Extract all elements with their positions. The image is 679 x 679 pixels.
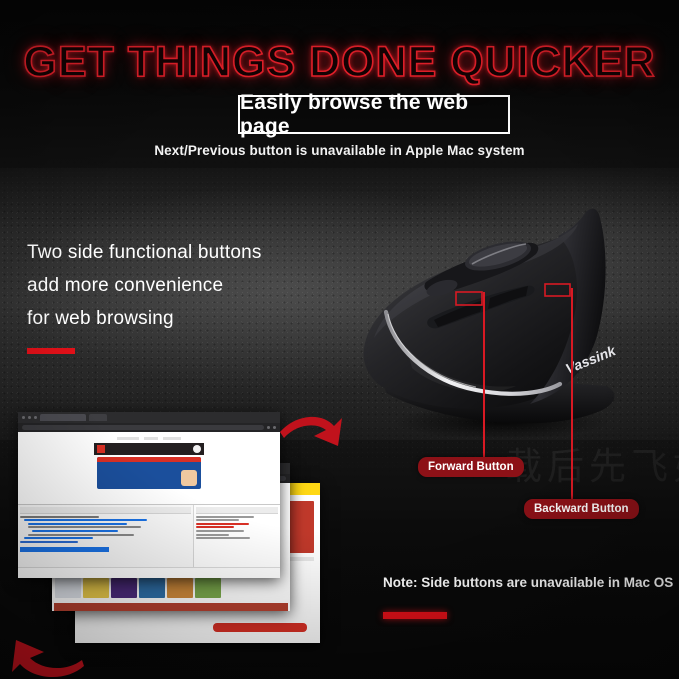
mockup-thumbnail-row: [52, 575, 290, 601]
mac-os-note: Note: Side buttons are unavailable in Ma…: [383, 575, 673, 590]
mockup-front-chrome-bar: [18, 412, 280, 423]
product-image-mouse: Vassink: [330, 196, 675, 446]
feature-copy-line-2: add more convenience: [27, 276, 327, 296]
feature-copy-line-3: for web browsing: [27, 309, 327, 329]
browser-mockup-front: [18, 412, 280, 578]
callout-backward-button: Backward Button: [524, 499, 639, 519]
mockup-devtools-panel: [18, 504, 280, 567]
cta-label: Easily browse the web page: [240, 91, 508, 139]
callout-forward-button: Forward Button: [418, 457, 524, 477]
accent-bar-left: [27, 348, 75, 354]
side-button-highlight-boxes: [455, 283, 585, 309]
mockup-front-url-bar: [18, 423, 280, 432]
feature-copy-line-1: Two side functional buttons: [27, 243, 327, 263]
curved-arrow-left-icon: [6, 630, 88, 678]
compatibility-subnote: Next/Previous button is unavailable in A…: [0, 143, 679, 158]
feature-copy: Two side functional buttons add more con…: [27, 243, 327, 342]
leader-line-backward: [571, 288, 573, 501]
curved-arrow-right-icon: [276, 402, 346, 458]
cta-banner: Easily browse the web page: [238, 95, 510, 134]
accent-bar-note: [383, 612, 447, 619]
leader-line-forward: [483, 292, 485, 459]
page-title: GET THINGS DONE QUICKER: [0, 38, 679, 87]
promo-banner: 载后先飞如 GET THINGS DONE QUICKER Easily bro…: [0, 0, 679, 679]
